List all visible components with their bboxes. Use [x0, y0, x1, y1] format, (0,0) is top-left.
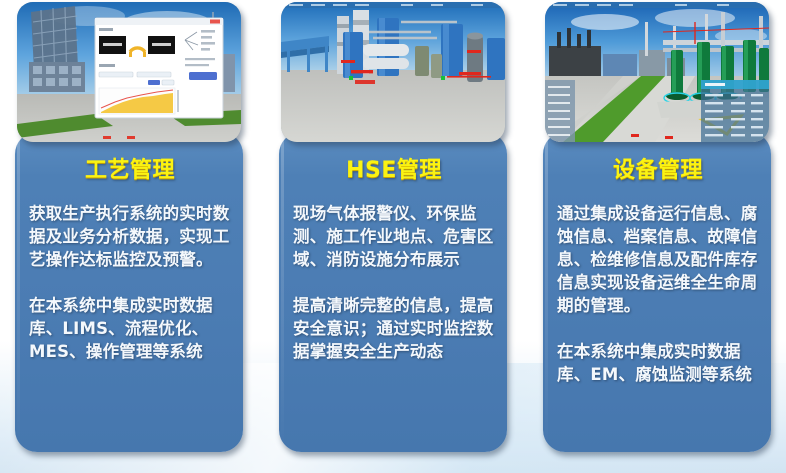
card-equipment-management[interactable]: 设备管理 通过集成设备运行信息、腐蚀信息、档案信息、故障信息、检维修信息及配件库…: [543, 0, 771, 458]
card-body-equipment-management: 设备管理 通过集成设备运行信息、腐蚀信息、档案信息、故障信息、检维修信息及配件库…: [543, 132, 771, 452]
card-hse-management[interactable]: HSE管理 现场气体报警仪、环保监测、施工作业地点、危害区域、消防设施分布展示 …: [279, 0, 507, 458]
plant-3d-scene-tanks-and-columns-icon: [281, 2, 505, 142]
card-paragraph: 提高清晰完整的信息，提高安全意识；通过实时监控数据掌握安全生产动态: [293, 294, 495, 363]
card-title: 工艺管理: [29, 152, 231, 184]
card-body-process-management: 工艺管理 获取生产执行系统的实时数据及业务分析数据，实现工艺操作达标监控及预警。…: [15, 132, 243, 452]
card-description: 现场气体报警仪、环保监测、施工作业地点、危害区域、消防设施分布展示 提高清晰完整…: [293, 202, 495, 363]
card-description: 获取生产执行系统的实时数据及业务分析数据，实现工艺操作达标监控及预警。 在本系统…: [29, 202, 231, 363]
card-title: 设备管理: [557, 152, 759, 184]
card-paragraph: 获取生产执行系统的实时数据及业务分析数据，实现工艺操作达标监控及预警。: [29, 202, 231, 271]
card-title: HSE管理: [293, 152, 495, 184]
card-paragraph: 在本系统中集成实时数据库、LIMS、流程优化、MES、操作管理等系统: [29, 294, 231, 363]
card-paragraph: 在本系统中集成实时数据库、EM、腐蚀监测等系统: [557, 340, 759, 386]
card-body-hse-management: HSE管理 现场气体报警仪、环保监测、施工作业地点、危害区域、消防设施分布展示 …: [279, 132, 507, 452]
card-paragraph: 现场气体报警仪、环保监测、施工作业地点、危害区域、消防设施分布展示: [293, 202, 495, 271]
card-row: 工艺管理 获取生产执行系统的实时数据及业务分析数据，实现工艺操作达标监控及预警。…: [0, 0, 786, 473]
plant-3d-scene-pumps-with-data-panel-icon: [545, 2, 769, 142]
card-description: 通过集成设备运行信息、腐蚀信息、档案信息、故障信息、检维修信息及配件库存信息实现…: [557, 202, 759, 386]
plant-3d-scene-with-dashboard-overlay-icon: [17, 2, 241, 142]
card-process-management[interactable]: 工艺管理 获取生产执行系统的实时数据及业务分析数据，实现工艺操作达标监控及预警。…: [15, 0, 243, 458]
card-paragraph: 通过集成设备运行信息、腐蚀信息、档案信息、故障信息、检维修信息及配件库存信息实现…: [557, 202, 759, 317]
